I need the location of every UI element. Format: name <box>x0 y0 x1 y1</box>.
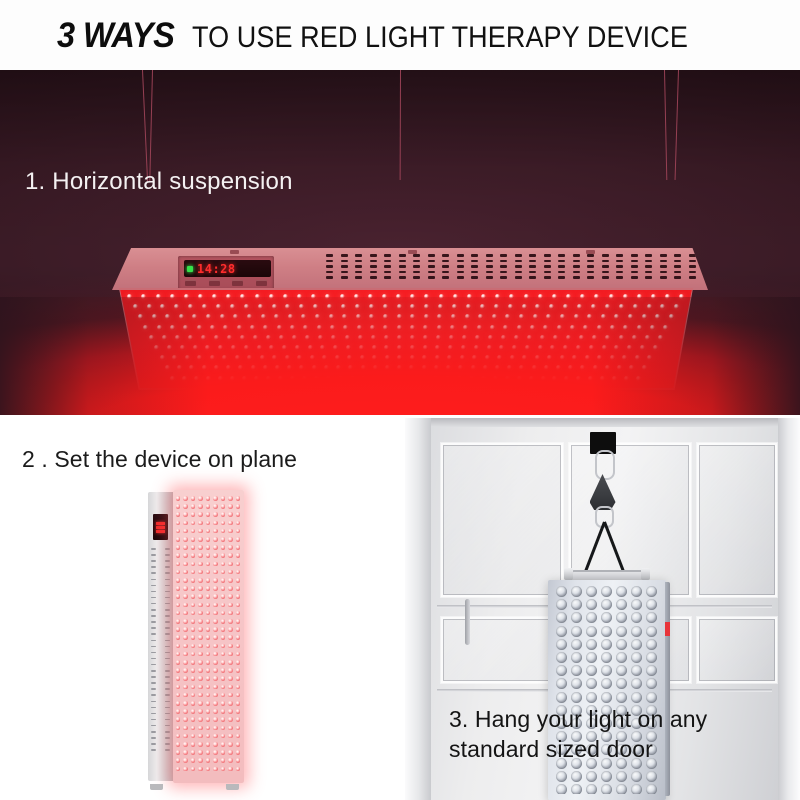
vent-slot <box>384 271 391 274</box>
vent-row <box>151 603 170 606</box>
led-lens <box>616 678 627 689</box>
vent-slot <box>529 276 536 279</box>
led-dot <box>206 562 211 567</box>
led-dot <box>236 611 241 616</box>
vent-slot <box>165 731 170 733</box>
led-lens <box>556 626 567 637</box>
led-lens <box>616 586 627 597</box>
vent-row <box>151 597 170 600</box>
led-dot <box>228 676 233 681</box>
led-dot <box>198 529 203 534</box>
vent-row <box>151 676 170 679</box>
led-lens <box>631 586 642 597</box>
vent-slot <box>165 591 170 593</box>
led-dot <box>213 512 218 517</box>
vent-slot <box>399 260 406 263</box>
vent-slot <box>151 640 156 642</box>
page-header: 3 WAYS TO USE RED LIGHT THERAPY DEVICE <box>0 0 800 70</box>
vent-row <box>326 271 696 275</box>
vent-row <box>326 254 696 258</box>
vent-slot <box>165 658 170 660</box>
device-foot <box>226 784 239 790</box>
vent-row <box>151 682 170 685</box>
vent-slot <box>587 254 594 257</box>
vent-slot <box>165 688 170 690</box>
led-dot <box>191 594 196 599</box>
vent-slot <box>384 265 391 268</box>
led-dot <box>183 504 188 509</box>
led-lens <box>571 692 582 703</box>
led-dot <box>198 578 203 583</box>
led-dot <box>176 635 181 640</box>
led-dot <box>191 652 196 657</box>
led-dot <box>221 693 226 698</box>
led-lens <box>616 612 627 623</box>
led-dot <box>206 603 211 608</box>
vent-slot <box>165 609 170 611</box>
vent-slot <box>500 260 507 263</box>
led-lens <box>631 652 642 663</box>
led-dot <box>228 562 233 567</box>
header-title-rest: TO USE RED LIGHT THERAPY DEVICE <box>192 21 688 55</box>
led-dot <box>228 750 233 755</box>
led-dot <box>236 586 241 591</box>
led-dot <box>183 726 188 731</box>
floor-light-glow <box>0 297 800 415</box>
led-dot <box>176 504 181 509</box>
led-dot <box>191 676 196 681</box>
led-dot <box>176 742 181 747</box>
vent-slot <box>341 271 348 274</box>
device-side-panel <box>148 492 174 781</box>
led-dot <box>213 750 218 755</box>
led-dot <box>228 726 233 731</box>
vent-slot <box>428 265 435 268</box>
led-lens <box>601 665 612 676</box>
led-row <box>174 627 242 634</box>
led-dot <box>183 537 188 542</box>
led-dot <box>236 521 241 526</box>
led-dot <box>176 562 181 567</box>
led-lens <box>631 771 642 782</box>
vent-slot <box>674 276 681 279</box>
vent-slot <box>384 276 391 279</box>
vent-row <box>151 627 170 630</box>
vent-slot <box>355 271 362 274</box>
led-dot <box>191 521 196 526</box>
vent-row <box>151 749 170 752</box>
led-lens <box>646 665 657 676</box>
led-dot <box>191 545 196 550</box>
device-hanging <box>548 578 666 800</box>
control-button[interactable] <box>209 280 220 286</box>
led-dot <box>183 717 188 722</box>
control-button[interactable] <box>185 280 196 286</box>
led-dot <box>221 767 226 772</box>
led-lens <box>571 586 582 597</box>
led-dot <box>236 734 241 739</box>
led-dot <box>236 578 241 583</box>
led-dot <box>183 750 188 755</box>
led-dot <box>221 603 226 608</box>
led-row <box>554 652 660 665</box>
vertical-display-screen <box>153 514 168 540</box>
vent-row <box>151 694 170 697</box>
led-dot <box>221 734 226 739</box>
led-dot <box>206 742 211 747</box>
vent-slot <box>457 254 464 257</box>
led-dot <box>206 767 211 772</box>
vent-slot <box>384 254 391 257</box>
vent-row <box>151 554 170 557</box>
vent-slot <box>165 603 170 605</box>
led-dot <box>176 685 181 690</box>
led-dot <box>191 701 196 706</box>
vent-slot <box>341 254 348 257</box>
vent-slot <box>165 749 170 751</box>
led-lens <box>571 665 582 676</box>
vent-slot <box>457 276 464 279</box>
led-dot <box>176 553 181 558</box>
vent-slot <box>165 640 170 642</box>
vent-slot <box>500 276 507 279</box>
vent-slot <box>442 265 449 268</box>
vent-slot <box>151 694 156 696</box>
mount-point <box>586 250 595 254</box>
vent-row <box>151 719 170 722</box>
vent-slot <box>341 265 348 268</box>
led-dot <box>191 709 196 714</box>
led-dot <box>236 709 241 714</box>
vent-row <box>151 585 170 588</box>
vent-slot <box>631 276 638 279</box>
caption-door: 3. Hang your light on any standard sized… <box>449 704 779 765</box>
led-row <box>174 701 242 708</box>
vent-slot <box>674 265 681 268</box>
led-dot <box>236 758 241 763</box>
led-dot <box>228 586 233 591</box>
vent-slot <box>515 260 522 263</box>
led-dot <box>191 603 196 608</box>
door-handle[interactable] <box>465 599 470 645</box>
led-lens <box>571 599 582 610</box>
vent-slot <box>645 265 652 268</box>
led-lens <box>646 612 657 623</box>
led-dot <box>198 627 203 632</box>
vent-row <box>151 707 170 710</box>
led-dot <box>228 709 233 714</box>
vent-slot <box>587 265 594 268</box>
vent-row <box>151 566 170 569</box>
led-dot <box>206 709 211 714</box>
led-dot <box>236 750 241 755</box>
led-dot <box>221 758 226 763</box>
led-dot <box>228 644 233 649</box>
vent-slot <box>587 276 594 279</box>
vent-slot <box>151 554 156 556</box>
vent-slot <box>442 260 449 263</box>
led-dot <box>198 726 203 731</box>
led-dot <box>213 685 218 690</box>
vent-slot <box>151 572 156 574</box>
led-dot <box>198 652 203 657</box>
led-dot <box>206 652 211 657</box>
vent-slot <box>151 688 156 690</box>
led-dot <box>198 676 203 681</box>
led-dot <box>236 685 241 690</box>
power-led-icon <box>187 266 193 272</box>
vent-slot <box>151 585 156 587</box>
vent-slot <box>151 676 156 678</box>
vent-slot <box>355 260 362 263</box>
vent-slot <box>689 265 696 268</box>
led-dot <box>228 685 233 690</box>
led-dot <box>183 660 188 665</box>
vent-slot <box>442 254 449 257</box>
vent-row <box>151 670 170 673</box>
vent-slot <box>602 276 609 279</box>
led-dot <box>228 537 233 542</box>
vent-slot <box>151 719 156 721</box>
panel-door-hang: 3. Hang your light on any standard sized… <box>405 418 800 800</box>
vent-slot <box>151 615 156 617</box>
led-lens <box>646 692 657 703</box>
door-panel <box>697 617 777 683</box>
control-button[interactable] <box>256 280 267 286</box>
led-dot <box>176 701 181 706</box>
led-dot <box>213 767 218 772</box>
led-dot <box>213 709 218 714</box>
led-dot <box>176 619 181 624</box>
led-dot <box>183 611 188 616</box>
led-dot <box>183 521 188 526</box>
led-dot <box>198 660 203 665</box>
led-dot <box>191 660 196 665</box>
led-dot <box>191 496 196 501</box>
led-dot <box>176 512 181 517</box>
led-dot <box>183 644 188 649</box>
vent-slot <box>471 271 478 274</box>
led-dot <box>191 529 196 534</box>
vent-slot <box>151 603 156 605</box>
led-dot <box>176 496 181 501</box>
led-dot <box>236 529 241 534</box>
led-dot <box>221 529 226 534</box>
led-dot <box>191 693 196 698</box>
led-dot <box>198 709 203 714</box>
led-dot <box>191 635 196 640</box>
led-dot <box>228 627 233 632</box>
vent-slot <box>165 627 170 629</box>
vent-slot <box>660 265 667 268</box>
led-lens <box>556 784 567 794</box>
led-dot <box>183 685 188 690</box>
led-dot <box>183 496 188 501</box>
led-dot <box>213 734 218 739</box>
vent-slot <box>573 260 580 263</box>
vent-slot <box>645 276 652 279</box>
led-dot <box>236 742 241 747</box>
control-button[interactable] <box>232 280 243 286</box>
led-dot <box>228 611 233 616</box>
led-dot <box>206 529 211 534</box>
led-lens <box>556 612 567 623</box>
vent-slot <box>442 271 449 274</box>
led-lens <box>586 639 597 650</box>
vent-slot <box>631 271 638 274</box>
led-lens <box>556 771 567 782</box>
led-lens <box>556 692 567 703</box>
vent-slot <box>399 271 406 274</box>
led-dot <box>213 562 218 567</box>
led-dot <box>213 758 218 763</box>
led-dot <box>236 553 241 558</box>
led-lens <box>586 771 597 782</box>
led-dot <box>198 734 203 739</box>
vent-slot <box>587 260 594 263</box>
vent-slot <box>428 276 435 279</box>
vent-slot <box>602 265 609 268</box>
led-dot <box>206 570 211 575</box>
led-dot <box>213 594 218 599</box>
led-lens <box>631 692 642 703</box>
led-dot <box>236 504 241 509</box>
led-dot <box>206 537 211 542</box>
vertical-vent-grille <box>151 548 170 753</box>
vent-slot <box>413 260 420 263</box>
vent-slot <box>515 265 522 268</box>
led-lens <box>601 639 612 650</box>
led-lens <box>601 586 612 597</box>
led-dot <box>191 504 196 509</box>
device-top-face: 14:28 <box>112 248 708 290</box>
led-dot <box>236 562 241 567</box>
led-dot <box>228 717 233 722</box>
vent-slot <box>370 260 377 263</box>
led-lens <box>631 665 642 676</box>
vent-row <box>151 572 170 575</box>
vent-slot <box>370 271 377 274</box>
vent-slot <box>165 615 170 617</box>
led-dot <box>183 570 188 575</box>
led-dot <box>206 504 211 509</box>
vent-slot <box>165 554 170 556</box>
led-row <box>174 504 242 511</box>
vent-row <box>151 737 170 740</box>
led-dot <box>213 553 218 558</box>
vent-slot <box>151 646 156 648</box>
vent-slot <box>573 265 580 268</box>
vent-slot <box>428 260 435 263</box>
led-dot <box>183 619 188 624</box>
led-dot <box>228 504 233 509</box>
led-row <box>174 611 242 618</box>
led-dot <box>206 578 211 583</box>
led-lens <box>601 692 612 703</box>
led-dot <box>206 627 211 632</box>
led-dot <box>206 545 211 550</box>
led-dot <box>191 537 196 542</box>
led-lens <box>646 652 657 663</box>
vent-row <box>151 713 170 716</box>
led-lens <box>631 612 642 623</box>
vent-slot <box>151 560 156 562</box>
vent-slot <box>165 646 170 648</box>
vent-slot <box>151 743 156 745</box>
led-lens <box>601 612 612 623</box>
vent-slot <box>355 276 362 279</box>
led-row <box>554 771 660 784</box>
vent-slot <box>500 254 507 257</box>
led-dot <box>191 734 196 739</box>
vent-slot <box>660 271 667 274</box>
vent-row <box>151 579 170 582</box>
vent-slot <box>544 260 551 263</box>
led-lens <box>616 599 627 610</box>
led-dot <box>213 676 218 681</box>
led-row <box>174 693 242 700</box>
led-dot <box>183 668 188 673</box>
led-dot <box>236 644 241 649</box>
vent-slot <box>660 254 667 257</box>
vent-slot <box>616 276 623 279</box>
vent-slot <box>341 260 348 263</box>
led-dot <box>176 717 181 722</box>
led-dot <box>213 627 218 632</box>
led-dot <box>198 553 203 558</box>
door-panel <box>441 617 563 683</box>
vent-slot <box>602 260 609 263</box>
led-lens <box>646 678 657 689</box>
led-dot <box>206 553 211 558</box>
led-lens <box>616 652 627 663</box>
vent-slot <box>165 713 170 715</box>
led-dot <box>206 701 211 706</box>
vent-slot <box>151 548 156 550</box>
led-dot <box>228 693 233 698</box>
led-row <box>554 665 660 678</box>
led-dot <box>176 709 181 714</box>
vent-slot <box>660 260 667 263</box>
led-dot <box>198 635 203 640</box>
led-dot <box>176 767 181 772</box>
device-mount-right <box>641 568 650 580</box>
led-dot <box>183 652 188 657</box>
led-dot <box>206 726 211 731</box>
control-button-group[interactable] <box>185 280 267 287</box>
vent-slot <box>165 725 170 727</box>
led-dot <box>198 586 203 591</box>
led-dot <box>183 578 188 583</box>
led-dot <box>221 512 226 517</box>
led-dot <box>191 767 196 772</box>
led-dot <box>183 758 188 763</box>
led-dot <box>191 512 196 517</box>
led-dot <box>183 553 188 558</box>
led-dot <box>228 553 233 558</box>
vent-slot <box>151 707 156 709</box>
vent-slot <box>326 271 333 274</box>
led-dot <box>236 545 241 550</box>
vent-slot <box>165 701 170 703</box>
vent-slot <box>165 572 170 574</box>
led-dot <box>221 562 226 567</box>
vent-row <box>151 615 170 618</box>
caption-horizontal: 1. Horizontal suspension <box>25 168 293 196</box>
led-dot <box>228 570 233 575</box>
led-lens <box>646 586 657 597</box>
led-dot <box>221 545 226 550</box>
